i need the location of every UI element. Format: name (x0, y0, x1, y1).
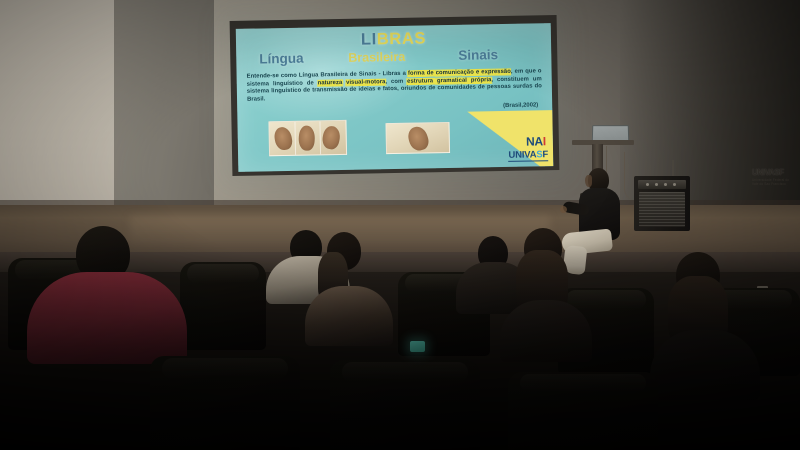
nai-logo-n: N (526, 134, 535, 148)
attendee-ponytail (305, 286, 393, 346)
presenter-face (585, 175, 592, 187)
wall-sign-subtitle: Universidade Federal do Vale do Sao Fran… (752, 178, 794, 186)
slide-body-highlight: visual-motora (346, 79, 385, 86)
seat (330, 360, 480, 450)
slide-photo-hand-one (386, 122, 451, 154)
seat (180, 262, 266, 350)
slide-body-text: Entende-se como Língua Brasileira de Sin… (247, 68, 543, 104)
wall-column (114, 0, 218, 212)
hand-icon (321, 125, 342, 151)
slide-word-brasileira: Brasileira (348, 50, 405, 65)
nai-logo-i: I (543, 134, 546, 148)
slide-logo-corner: NAI UNIVASF (444, 110, 553, 168)
attendee-phone-screen (410, 341, 425, 352)
seat (508, 372, 658, 450)
slide-body-highlight: forma de comunicação e expressão (408, 69, 511, 77)
univasf-logo-f: F (542, 149, 548, 160)
amplifier-knob (673, 183, 676, 186)
hand-icon (298, 125, 315, 151)
slide-citation: (Brasil,2002) (503, 102, 538, 109)
hand-icon (273, 126, 293, 151)
amplifier-knob (655, 183, 658, 186)
slide-title-li: LI (361, 30, 377, 48)
seat-highlight (342, 362, 468, 382)
nai-logo: NAI (526, 135, 546, 147)
photo-divider (294, 122, 296, 155)
podium-top (572, 140, 634, 145)
univasf-wall-sign: UNIVASF Universidade Federal do Vale do … (752, 168, 794, 190)
photo-divider (319, 121, 321, 154)
slide-word-sinais: Sinais (458, 47, 498, 63)
seat-highlight (520, 374, 646, 392)
slide-body-highlight: estrutura gramatical própria (407, 77, 491, 85)
wall-left (0, 0, 120, 230)
antenna-icon (672, 160, 674, 177)
slide-word-lingua: Língua (259, 51, 304, 67)
presentation-slide: LIBRAS Língua Brasileira Sinais Entende-… (236, 23, 554, 172)
hand-icon (406, 125, 431, 153)
seat-highlight (187, 264, 259, 283)
slide-body-run: , com (385, 78, 407, 84)
slide-title-libras: LIBRAS (236, 28, 551, 50)
amplifier-knob (664, 183, 667, 186)
attendee-red-polo (27, 272, 187, 364)
auditorium-photo: UNIVASF Universidade Federal do Vale do … (0, 0, 800, 450)
presenter-hand (560, 206, 567, 213)
seat-highlight (162, 358, 288, 379)
seat (150, 356, 300, 450)
slide-body-highlight: natureza (318, 80, 343, 86)
slide-title-bras: BRAS (377, 29, 426, 48)
wall-sign-text: UNIVASF (752, 168, 794, 177)
attendee-long-hair-right (500, 300, 592, 362)
nai-logo-a: A (534, 134, 543, 148)
projection-screen: LIBRAS Língua Brasileira Sinais Entende-… (230, 15, 560, 176)
univasf-logo: UNIVASF (508, 150, 548, 162)
seat-highlight (566, 290, 647, 309)
univasf-logo-u: UNIVA (508, 149, 536, 161)
presenter (560, 168, 650, 278)
slide-photo-hands-three (268, 120, 347, 156)
attendee-far-right (650, 330, 760, 400)
